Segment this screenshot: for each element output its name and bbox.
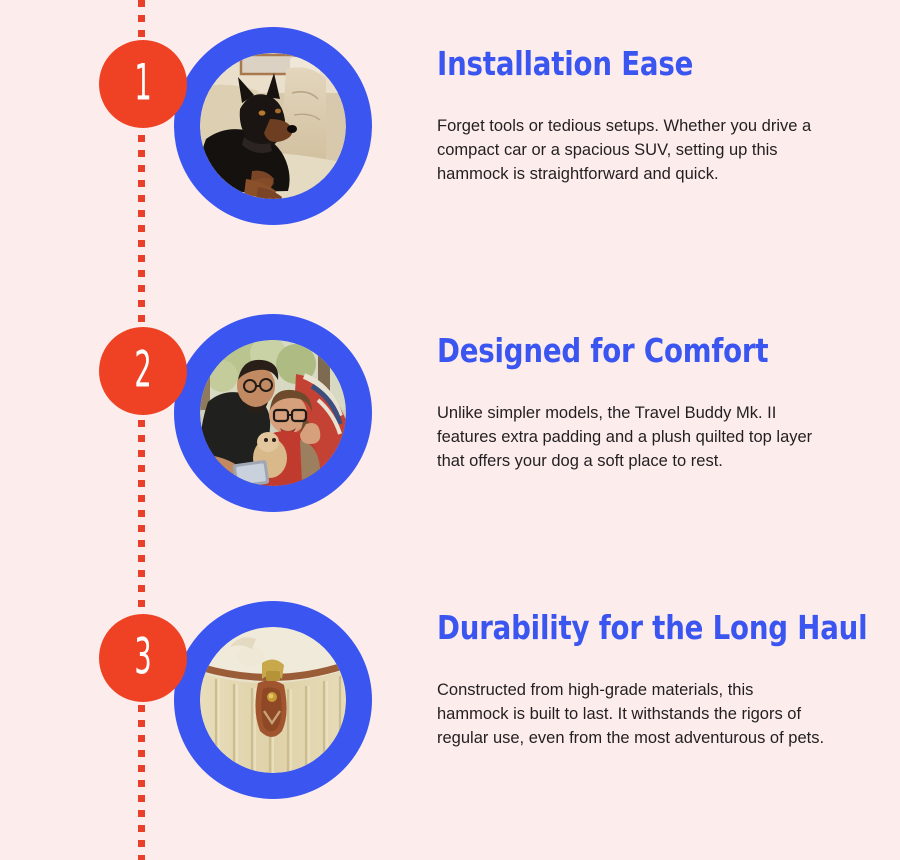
step-photo [200,340,346,486]
step-text-column: Installation Ease Forget tools or tediou… [437,47,837,186]
step-item: 2 [0,314,900,544]
step-item: 1 [0,27,900,257]
step-number-badge: 1 [99,40,187,128]
step-title: Installation Ease [437,47,809,82]
quilted-hammock-zipper-closeup-image [200,627,346,773]
step-photo [200,53,346,199]
timeline-dashed-line [138,0,145,860]
dog-in-car-hammock-image [200,53,346,199]
couple-selfie-hammock-image [200,340,346,486]
step-image-ring [174,314,372,512]
step-title: Designed for Comfort [437,334,809,369]
step-item: 3 [0,601,900,831]
step-number-label: 2 [134,344,151,397]
step-number-badge: 3 [99,614,187,702]
step-body-text: Forget tools or tedious setups. Whether … [437,114,829,186]
step-text-column: Durability for the Long Haul Constructed… [437,611,837,750]
step-number-label: 3 [134,631,151,684]
step-image-ring [174,601,372,799]
step-number-badge: 2 [99,327,187,415]
step-body-text: Unlike simpler models, the Travel Buddy … [437,401,829,473]
step-image-ring [174,27,372,225]
step-photo [200,627,346,773]
step-title: Durability for the Long Haul [437,611,809,646]
step-text-column: Designed for Comfort Unlike simpler mode… [437,334,837,473]
step-number-label: 1 [134,57,151,110]
step-body-text: Constructed from high-grade materials, t… [437,678,829,750]
